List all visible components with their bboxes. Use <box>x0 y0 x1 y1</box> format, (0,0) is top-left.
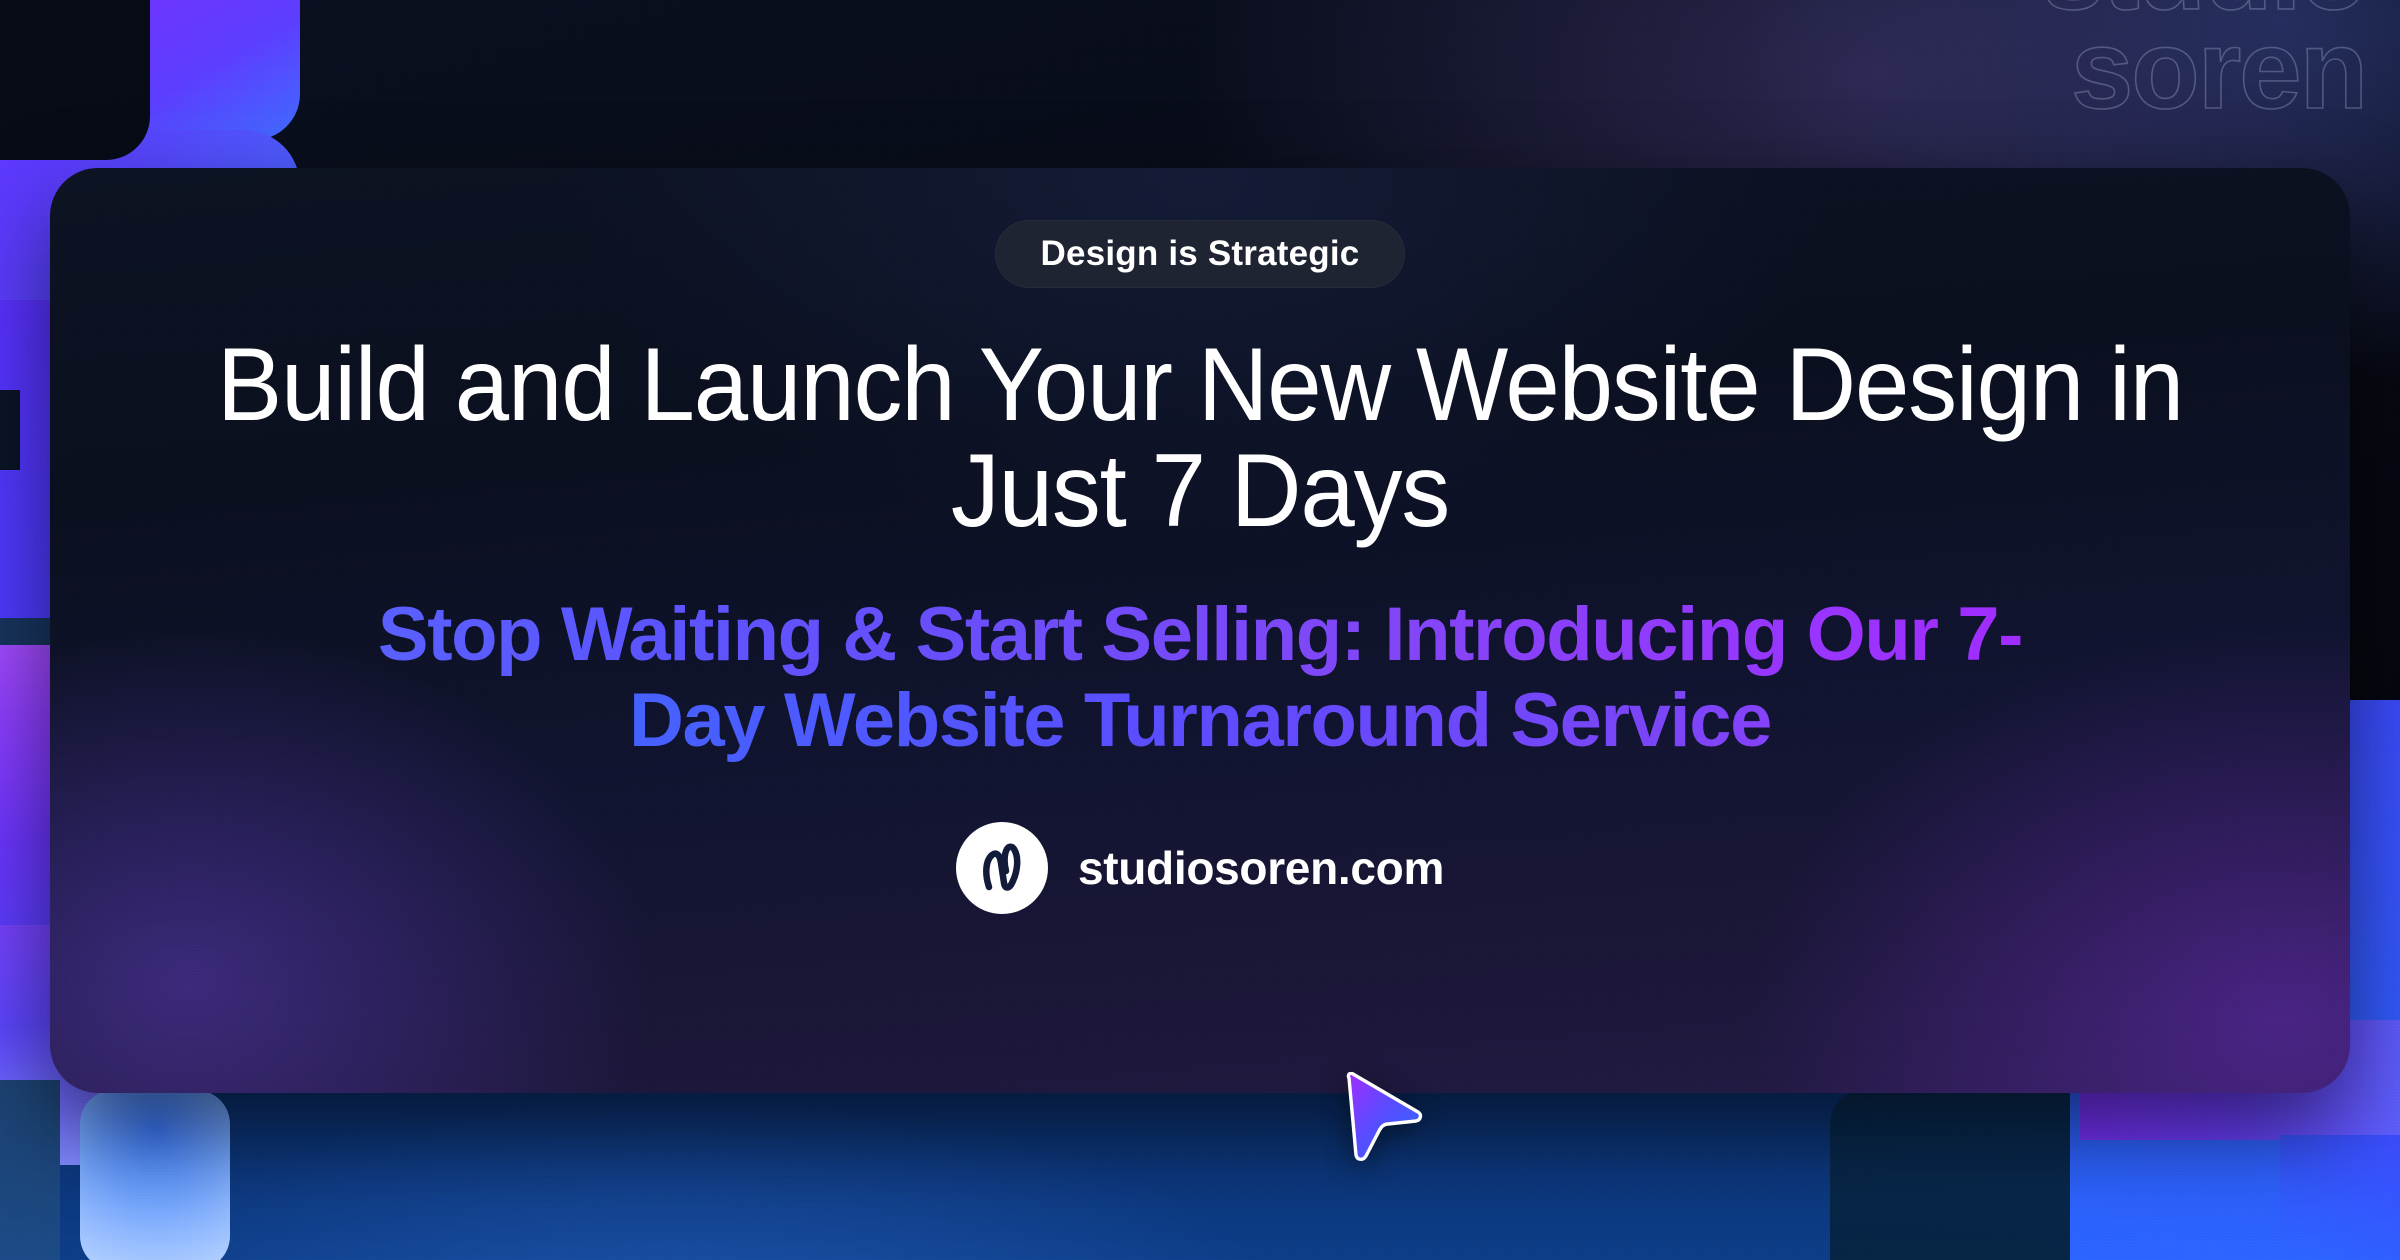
deco-block-bottom-right-navy <box>1830 1090 2070 1260</box>
subtitle-line-1: Stop Waiting & Start Selling: Introducin… <box>378 592 2022 678</box>
deco-block-bottom-right-blue <box>2280 1135 2400 1260</box>
status-badge: Design is Strategic <box>995 220 1406 288</box>
hero-card: Design is Strategic Build and Launch You… <box>50 168 2350 1093</box>
card-content: Design is Strategic Build and Launch You… <box>50 168 2350 1093</box>
headline-line-1: Build and Launch Your New Website Design <box>217 327 2083 443</box>
badge-label: Design is Strategic <box>1041 234 1360 274</box>
deco-block-dark-notch-top <box>0 0 150 160</box>
cursor-arrow-icon <box>1342 1072 1426 1164</box>
subtitle-line-2: Day Website Turnaround Service <box>378 678 2022 764</box>
page-title: Build and Launch Your New Website Design… <box>185 332 2215 544</box>
deco-block-bottom-light-square <box>80 1090 230 1260</box>
page-subtitle: Stop Waiting & Start Selling: Introducin… <box>378 592 2022 764</box>
brand-url: studiosoren.com <box>1078 841 1444 895</box>
studio-soren-zigzag-logo-icon <box>956 822 1048 914</box>
brand-footer[interactable]: studiosoren.com <box>956 822 1444 914</box>
poster-canvas: studio soren Design is Strategic Build a… <box>0 0 2400 1260</box>
deco-block-dark-strip-left <box>0 390 20 470</box>
deco-block-bottom-left-navy <box>0 1080 60 1260</box>
